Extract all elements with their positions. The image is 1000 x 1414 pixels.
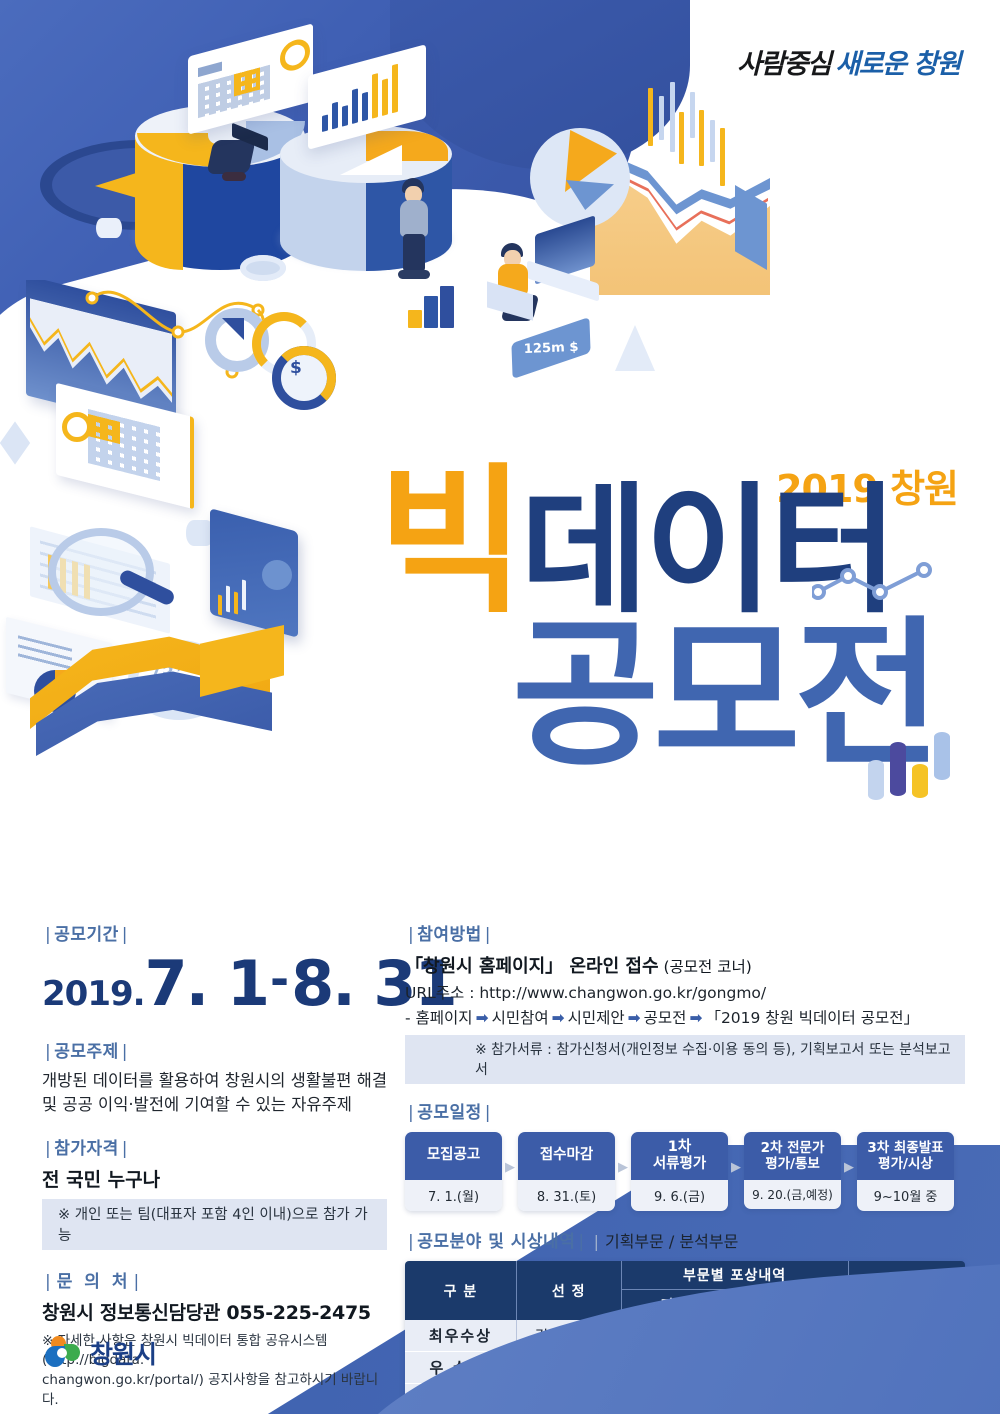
person-torso-2: [400, 200, 428, 237]
candlestick: [699, 110, 704, 166]
topic-line-1: 개방된 데이터를 활용하여 창원시의 생활불편 해결: [42, 1069, 387, 1092]
candlestick: [659, 96, 664, 140]
period-date-row: 2019.7. 1-8. 31: [42, 947, 387, 1020]
label-bar-left: |: [42, 1272, 57, 1292]
th-selection: 선 정: [516, 1261, 621, 1320]
gear-icon: [240, 255, 286, 281]
calendar-header-bar: [198, 62, 222, 77]
schedule-arrow-icon: ▶: [728, 1132, 744, 1202]
label-bar-left: |: [405, 1103, 417, 1123]
th-division: 구 분: [405, 1261, 516, 1320]
arrow-icon: ➡: [549, 1009, 568, 1027]
slogan-blue-text: 새로운 창원: [835, 49, 960, 80]
eligibility-value: 전 국민 누구나: [42, 1165, 387, 1192]
mini-bar-lightblue-1: [868, 760, 884, 800]
label-bar-left: |: [405, 1232, 417, 1252]
section-label-awards: |공모분야 및 시상내역|: [405, 1227, 588, 1252]
section-label-topic-text: 공모주제: [54, 1042, 119, 1062]
chart-bar: [392, 64, 398, 114]
label-bar-left: |: [405, 925, 417, 945]
label-bar-right: |: [119, 925, 131, 945]
dollar-symbol: $: [290, 358, 302, 378]
schedule-step-title: 접수마감: [518, 1132, 615, 1180]
poster-title-block: 2019 창원 빅 데이터 공모전: [0, 430, 1000, 830]
schedule-arrow-icon: ▶: [841, 1132, 857, 1202]
changwon-logo-mark: [45, 1336, 81, 1370]
schedule-flow: 모집공고 7. 1.(월) ▶ 접수마감 8. 31.(토) ▶ 1차 서류평가…: [405, 1132, 965, 1211]
small-cylinder: [96, 218, 122, 238]
schedule-step-title: 3차 최종발표 평가/시상: [857, 1132, 954, 1180]
label-bar-right: |: [131, 1272, 146, 1292]
path-step-4: 「2019 창원 빅데이터 공모전」: [705, 1009, 919, 1027]
chart-bar: [342, 105, 348, 127]
arrow-icon: ➡: [625, 1009, 644, 1027]
poster-canvas: 125m $ $: [0, 0, 1000, 1414]
path-step-0: - 홈페이지: [405, 1009, 473, 1027]
participation-note: ※ 참가서류 : 참가신청서(개인정보 수집·이용 동의 등), 기획보고서 또…: [405, 1035, 965, 1084]
section-label-schedule-text: 공모일정: [417, 1103, 482, 1123]
schedule-step: 모집공고 7. 1.(월): [405, 1132, 502, 1211]
person-legs: [206, 140, 255, 174]
path-step-1: 시민참여: [492, 1009, 549, 1027]
schedule-step-date: 9~10월 중: [857, 1180, 954, 1211]
section-label-period: |공모기간|: [42, 920, 387, 945]
candlestick: [720, 128, 725, 186]
section-label-awards-text: 공모분야 및 시상내역: [417, 1232, 575, 1252]
topic-line-2: 및 공공 이익·발전에 기여할 수 있는 자유주제: [42, 1093, 387, 1116]
mini-bar-purple: [890, 742, 906, 796]
participation-url: URL주소 : http://www.changwon.go.kr/gongmo…: [405, 981, 965, 1003]
candlestick: [670, 82, 675, 152]
section-label-participation: |참여방법|: [405, 920, 965, 945]
contact-value: 창원시 정보통신담당관 055-225-2475: [42, 1298, 387, 1325]
logo-swirl-white: [57, 1348, 67, 1358]
candlestick: [648, 88, 653, 146]
mini-bar-navy-1: [424, 296, 438, 328]
period-start: 7. 1: [145, 947, 268, 1020]
title-mini-bars-decoration: [868, 730, 958, 800]
label-bar-right: |: [575, 1232, 587, 1252]
schedule-step-date: 9. 20.(금,예정): [744, 1180, 841, 1209]
person-shoe: [222, 172, 246, 181]
participation-line-1: 「창원시 홈페이지」 온라인 접수 (공모전 코너): [405, 952, 965, 978]
money-tag-label: 125m $: [523, 340, 578, 357]
candlestick: [690, 92, 695, 138]
mini-bar-navy-2: [440, 286, 454, 328]
candlestick: [710, 120, 715, 162]
chart-bar: [352, 88, 358, 124]
arrow-icon: ➡: [473, 1009, 492, 1027]
chart-bar: [332, 102, 338, 130]
title-dot-line-decoration: [812, 562, 932, 602]
path-step-3: 공모전: [644, 1009, 687, 1027]
schedule-arrow-icon: ▶: [502, 1132, 518, 1202]
schedule-step: 1차 서류평가 9. 6.(금): [631, 1132, 728, 1211]
person-shoe-2: [398, 270, 430, 279]
schedule-step-date: 7. 1.(월): [405, 1180, 502, 1211]
awards-subtitle: 기획부문 / 분석부문: [605, 1228, 738, 1252]
chart-bar: [322, 114, 328, 132]
schedule-step: 2차 전문가 평가/통보 9. 20.(금,예정): [744, 1132, 841, 1209]
calendar-donut-icon: [280, 36, 310, 74]
contact-note-line-2: changwon.go.kr/portal/) 공지사항을 참고하시기 바랍니다…: [42, 1371, 387, 1410]
slogan-black-text: 사람중심: [737, 49, 830, 80]
period-year: 2019.: [42, 974, 145, 1014]
mini-bar-lightblue-2: [934, 732, 950, 780]
schedule-step-date: 9. 6.(금): [631, 1180, 728, 1211]
section-label-contact: |문 의 처|: [42, 1267, 387, 1292]
participation-path: - 홈페이지➡시민참여➡시민제안➡공모전➡「2019 창원 빅데이터 공모전」: [405, 1006, 965, 1028]
section-label-eligibility-text: 참가자격: [54, 1139, 119, 1159]
section-label-topic: |공모주제|: [42, 1037, 387, 1062]
city-logo: 창원시: [45, 1335, 156, 1371]
schedule-step: 접수마감 8. 31.(토): [518, 1132, 615, 1211]
section-label-schedule: |공모일정|: [405, 1098, 965, 1123]
person-legs-2: [403, 234, 425, 272]
section-label-contact-text: 문 의 처: [57, 1272, 131, 1292]
chart-bar: [372, 73, 378, 119]
label-bar-right: |: [119, 1139, 131, 1159]
schedule-step-title: 모집공고: [405, 1132, 502, 1180]
coin-dollar-arc: [272, 346, 336, 410]
title-big: 빅: [378, 472, 519, 613]
schedule-step-date: 8. 31.(토): [518, 1180, 615, 1211]
section-label-participation-text: 참여방법: [417, 925, 482, 945]
participation-rest-text: (공모전 코너): [659, 958, 752, 976]
period-dash: -: [268, 952, 291, 1006]
schedule-step: 3차 최종발표 평가/시상 9~10월 중: [857, 1132, 954, 1211]
participation-bold-text: 「창원시 홈페이지」 온라인 접수: [405, 956, 659, 977]
candlestick: [679, 112, 684, 164]
label-bar-right: |: [119, 1042, 131, 1062]
schedule-step-title: 1차 서류평가: [631, 1132, 728, 1180]
schedule-arrow-icon: ▶: [615, 1132, 631, 1202]
label-bar-left: |: [42, 1139, 54, 1159]
section-label-eligibility: |참가자격|: [42, 1134, 387, 1159]
label-bar-left: |: [42, 925, 54, 945]
chart-bar: [362, 92, 368, 122]
city-slogan: 사람중심새로운 창원: [737, 42, 960, 81]
arrow-icon: ➡: [686, 1009, 705, 1027]
chart-bar: [382, 78, 388, 116]
schedule-step-title: 2차 전문가 평가/통보: [744, 1132, 841, 1180]
city-logo-text: 창원시: [90, 1335, 156, 1371]
eligibility-note: ※ 개인 또는 팀(대표자 포함 4인 이내)으로 참가 가능: [42, 1199, 387, 1250]
section-label-awards-row: |공모분야 및 시상내역| | 기획부문 / 분석부문: [405, 1227, 965, 1252]
label-bar-right: |: [482, 1103, 494, 1123]
label-bar-left: |: [42, 1042, 54, 1062]
section-label-period-text: 공모기간: [54, 925, 119, 945]
label-bar-right: |: [482, 925, 494, 945]
mini-bar-yellow-2: [912, 764, 928, 798]
awards-divider: |: [594, 1232, 599, 1251]
path-step-2: 시민제안: [568, 1009, 625, 1027]
